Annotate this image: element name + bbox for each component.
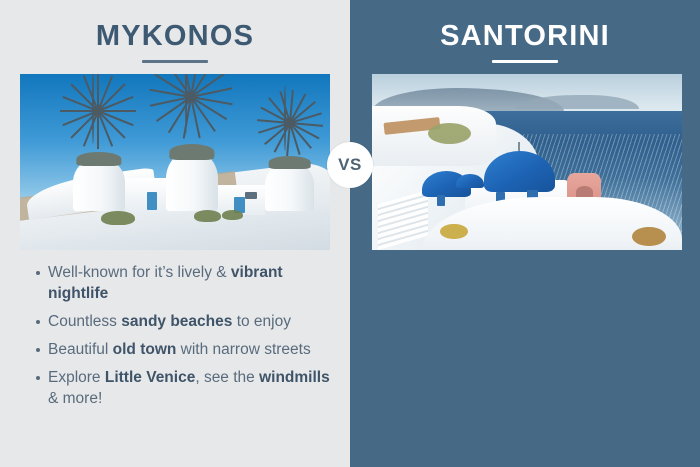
photo-santorini <box>372 74 682 250</box>
mykonos-scene <box>20 74 330 250</box>
window <box>437 195 445 206</box>
vs-label: VS <box>338 155 362 175</box>
page-title-mykonos: MYKONOS <box>0 22 350 51</box>
blue-dome <box>456 174 484 188</box>
mykonos-title-block: MYKONOS <box>0 0 350 63</box>
comparison-infographic: MYKONOS <box>0 0 700 467</box>
title-underline-right <box>492 60 558 63</box>
window <box>245 192 257 199</box>
windmill <box>73 158 126 211</box>
shrub <box>194 210 222 222</box>
church-cross <box>518 142 520 151</box>
list-item: Well-known for it’s lively & vibrant nig… <box>34 262 334 304</box>
shrub <box>101 211 135 225</box>
list-item-emphasis: old town <box>113 341 177 358</box>
list-item-text: to enjoy <box>232 313 291 330</box>
list-item: Countless sandy beaches to enjoy <box>34 311 334 332</box>
title-underline-left <box>142 60 208 63</box>
blade-hub <box>92 74 94 144</box>
blade-hub <box>284 85 286 151</box>
blue-door <box>147 192 157 210</box>
list-item-text: Explore <box>48 369 105 386</box>
list-item-emphasis: windmills <box>259 369 330 386</box>
list-item-text: & more! <box>48 390 102 407</box>
blade-hub <box>185 74 187 134</box>
list-item: Beautiful old town with narrow streets <box>34 339 334 360</box>
windmill <box>166 151 219 211</box>
santorini-scene <box>372 74 682 250</box>
page-title-santorini: SANTORINI <box>350 22 700 51</box>
shrub <box>222 210 244 221</box>
list-item-text: , see the <box>195 369 259 386</box>
list-item-emphasis: sandy beaches <box>121 313 232 330</box>
panel-mykonos: MYKONOS <box>0 0 350 467</box>
vs-badge: VS <box>327 142 373 188</box>
list-item-emphasis: Little Venice <box>105 369 195 386</box>
feature-list-mykonos: Well-known for it’s lively & vibrant nig… <box>34 262 334 416</box>
list-item-text: Countless <box>48 313 121 330</box>
windmill <box>265 162 315 211</box>
photo-mykonos <box>20 74 330 250</box>
list-item-text: Well-known for it’s lively & <box>48 264 231 281</box>
list-item-text: with narrow streets <box>176 341 310 358</box>
panel-santorini: SANTORINI <box>350 0 700 467</box>
santorini-title-block: SANTORINI <box>350 0 700 63</box>
list-item-text: Beautiful <box>48 341 113 358</box>
list-item: Explore Little Venice, see the windmills… <box>34 367 334 409</box>
